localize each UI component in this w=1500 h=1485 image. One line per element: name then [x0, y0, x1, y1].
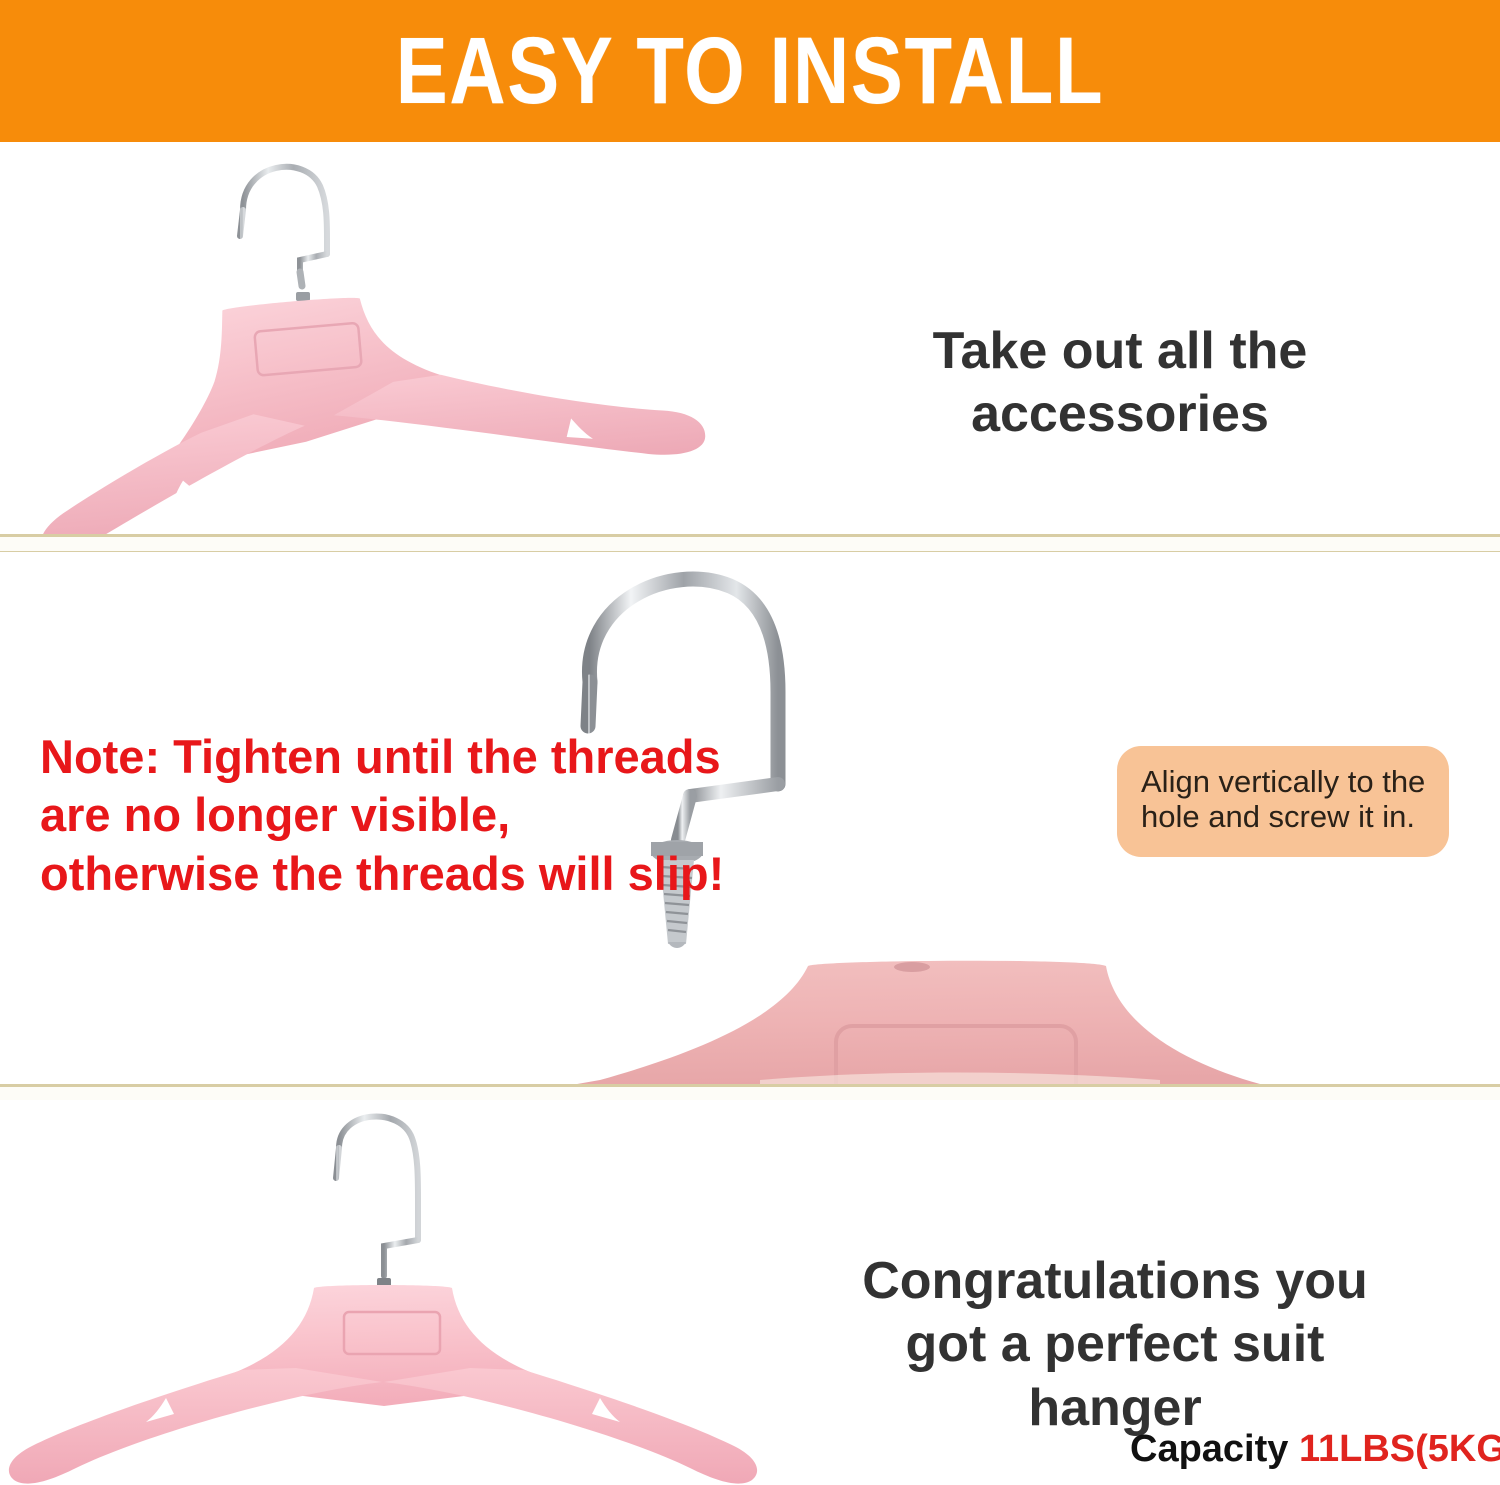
capacity-label: Capacity	[1130, 1428, 1288, 1470]
hanger-body	[9, 1285, 757, 1484]
warning-note: Note: Tighten until the threads are no l…	[40, 728, 730, 903]
capacity-label-group: Capacity 11LBS(5KG)	[1130, 1428, 1500, 1471]
chrome-hook-installed	[336, 1116, 418, 1288]
capacity-value: 11LBS(5KG)	[1299, 1428, 1500, 1470]
header-banner: EASY TO INSTALL	[0, 0, 1500, 142]
align-instruction-callout: Align vertically to the hole and screw i…	[1117, 746, 1449, 857]
divider-gap	[0, 537, 1500, 551]
divider-gap	[0, 1087, 1500, 1101]
step1-caption-text: Take out all the accessories	[885, 320, 1355, 447]
callout-text: Align vertically to the hole and screw i…	[1141, 764, 1425, 834]
step3-caption-text: Congratulations you got a perfect suit h…	[835, 1250, 1395, 1440]
page-title: EASY TO INSTALL	[396, 24, 1104, 119]
chrome-hook-detached	[240, 167, 327, 301]
panel-divider-1	[0, 534, 1500, 554]
hanger-illustration-step3	[0, 1100, 800, 1485]
hanger-shoulder-closeup	[560, 961, 1340, 1087]
screw-hole	[894, 962, 930, 972]
hanger-illustration-step1	[0, 142, 800, 534]
hanger-body	[22, 267, 710, 534]
